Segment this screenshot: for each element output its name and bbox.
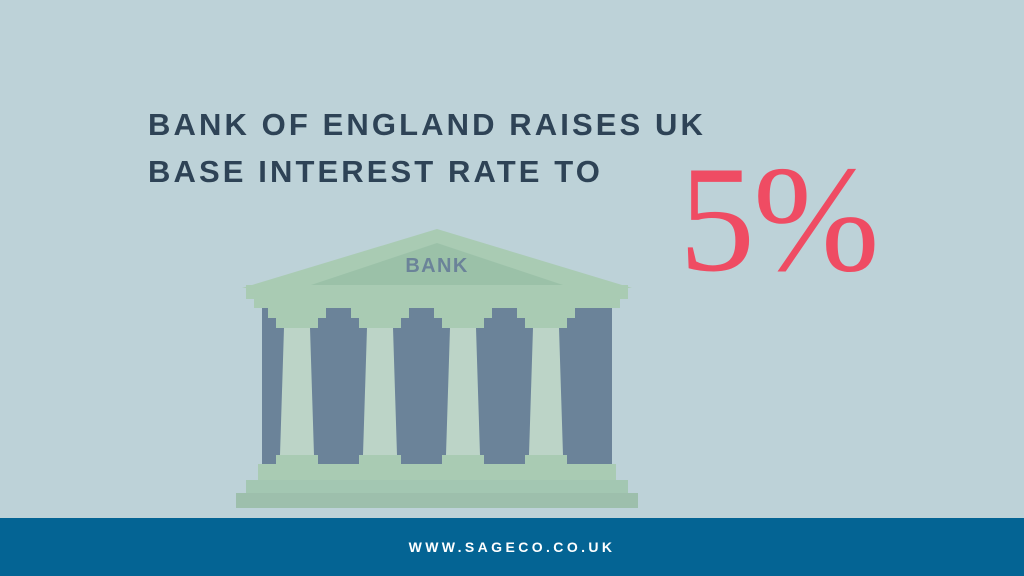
column-4-base-upper [525, 455, 567, 464]
column-2-shaft [363, 328, 397, 455]
column-3-capital-lower [442, 318, 484, 328]
column-4-shaft [529, 328, 563, 455]
column-1-shaft [280, 328, 314, 455]
pediment-bank-label: BANK [405, 255, 468, 277]
step-tier-middle [246, 480, 628, 493]
footer-website-url[interactable]: WWW.SAGECO.CO.UK [409, 539, 616, 555]
poster-canvas: BANK OF ENGLAND RAISES UK BASE INTEREST … [0, 0, 1024, 576]
column-4-capital-lower [525, 318, 567, 328]
step-tier-bottom [236, 493, 638, 508]
entablature-lower-band [254, 299, 620, 308]
bank-building-illustration: BANK [232, 225, 642, 510]
column-4-capital-upper [517, 308, 575, 318]
column-2-capital-upper [351, 308, 409, 318]
column-2-capital-lower [359, 318, 401, 328]
column-1-capital-lower [276, 318, 318, 328]
footer-bar: WWW.SAGECO.CO.UK [0, 518, 1024, 576]
column-3-base-upper [442, 455, 484, 464]
column-1-capital-upper [268, 308, 326, 318]
column-3-shaft [446, 328, 480, 455]
column-2-base-upper [359, 455, 401, 464]
column-1-base-upper [276, 455, 318, 464]
step-tier-top [258, 464, 616, 480]
column-3-capital-upper [434, 308, 492, 318]
entablature-upper-band [246, 285, 628, 299]
interest-rate-highlight: 5% [679, 143, 878, 295]
